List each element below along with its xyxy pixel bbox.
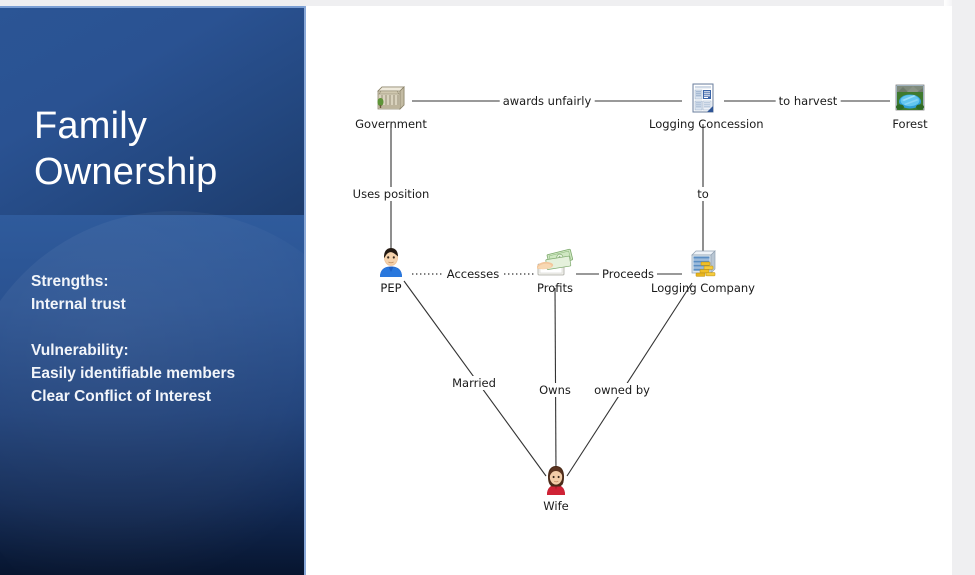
- title-line-2: Ownership: [34, 149, 284, 195]
- node-label-government: Government: [337, 117, 445, 131]
- edge-label-married: Married: [449, 376, 499, 390]
- node-profits[interactable]: $ Profits: [501, 246, 609, 295]
- cash-money-icon: $: [535, 246, 575, 278]
- edge-label-to-harvest: to harvest: [776, 94, 841, 108]
- vulnerability-item-2: Clear Conflict of Interest: [31, 385, 296, 408]
- forest-lake-icon: [894, 82, 926, 114]
- node-logging-concession[interactable]: Logging Concession: [649, 82, 757, 131]
- person-female-icon: [540, 464, 572, 496]
- node-label-profits: Profits: [501, 281, 609, 295]
- title-line-1: Family: [34, 103, 284, 149]
- page-title: Family Ownership: [34, 103, 284, 195]
- node-label-logging-company: Logging Company: [649, 281, 757, 295]
- node-wife[interactable]: Wife: [502, 464, 610, 513]
- panel-right-border: [304, 6, 306, 575]
- edge-logging-company-wife: [567, 283, 692, 476]
- edge-label-awards-unfairly: awards unfairly: [500, 94, 595, 108]
- diagram-canvas: awards unfairly to harvest Uses position…: [308, 6, 952, 575]
- company-server-gold-icon: [687, 246, 719, 278]
- node-logging-company[interactable]: Logging Company: [649, 246, 757, 295]
- node-label-pep: PEP: [337, 281, 445, 295]
- node-label-wife: Wife: [502, 499, 610, 513]
- edge-label-to: to: [694, 187, 712, 201]
- strengths-item: Internal trust: [31, 293, 296, 316]
- vulnerability-heading: Vulnerability:: [31, 339, 296, 362]
- node-pep[interactable]: PEP: [337, 246, 445, 295]
- person-male-icon: [375, 246, 407, 278]
- panel-bullet-text: Strengths: Internal trust Vulnerability:…: [31, 270, 296, 408]
- edge-label-owned-by: owned by: [591, 383, 653, 397]
- vulnerability-item-1: Easily identifiable members: [31, 362, 296, 385]
- node-forest[interactable]: Forest: [856, 82, 964, 131]
- edge-label-accesses: Accesses: [444, 267, 502, 281]
- node-label-logging-concession: Logging Concession: [649, 117, 757, 131]
- strengths-heading: Strengths:: [31, 270, 296, 293]
- node-label-forest: Forest: [856, 117, 964, 131]
- edge-profits-wife: [555, 288, 556, 474]
- government-building-icon: [375, 82, 407, 114]
- document-permit-icon: [687, 82, 719, 114]
- presentation-slide: Family Ownership Strengths: Internal tru…: [0, 0, 975, 575]
- edge-label-uses-position: Uses position: [350, 187, 433, 201]
- node-government[interactable]: Government: [337, 82, 445, 131]
- bullet-spacer: [31, 316, 296, 339]
- edge-label-owns: Owns: [536, 383, 574, 397]
- title-panel: Family Ownership Strengths: Internal tru…: [0, 6, 306, 575]
